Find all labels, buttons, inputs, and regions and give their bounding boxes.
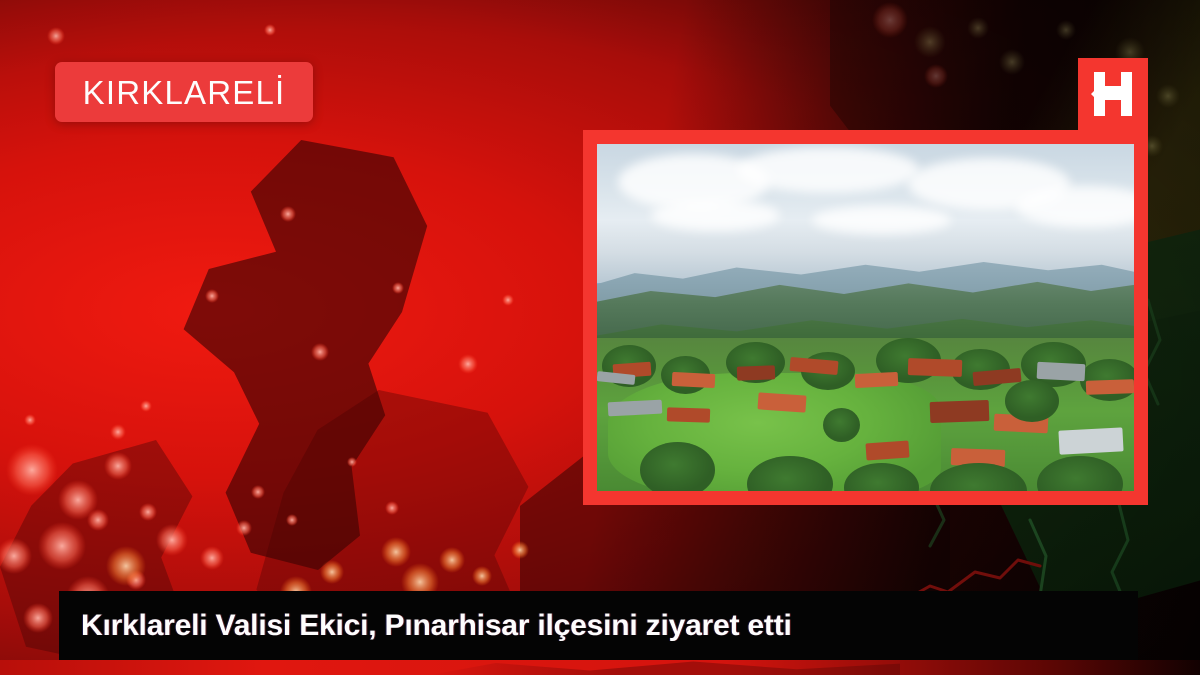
headline-title: Kırklareli Valisi Ekici, Pınarhisar ilçe… (81, 611, 792, 641)
photo-rooftop (930, 400, 990, 423)
photo-rooftop (736, 365, 774, 380)
article-photo-frame (583, 130, 1148, 505)
photo-tree (1005, 380, 1059, 422)
photo-rooftop (667, 407, 710, 422)
cloud-shape (651, 200, 780, 231)
photo-rooftop (672, 372, 716, 388)
article-photo (597, 144, 1134, 491)
photo-rooftop (758, 392, 807, 413)
photo-rooftop (1058, 427, 1124, 455)
photo-rooftop (854, 372, 898, 388)
h-letter-icon (1091, 70, 1135, 118)
headline-bar: Kırklareli Valisi Ekici, Pınarhisar ilçe… (59, 591, 1138, 660)
photo-rooftop (908, 358, 962, 377)
city-badge: KIRKLARELİ (55, 62, 313, 122)
photo-rooftop (607, 399, 661, 416)
photo-rooftop (1085, 379, 1134, 395)
cloud-shape (737, 147, 920, 192)
news-card: KIRKLARELİ (0, 0, 1200, 675)
city-badge-label: KIRKLARELİ (83, 76, 286, 109)
photo-rooftop (1037, 361, 1086, 381)
photo-tree (640, 442, 715, 491)
haberler-logo[interactable] (1078, 58, 1148, 130)
